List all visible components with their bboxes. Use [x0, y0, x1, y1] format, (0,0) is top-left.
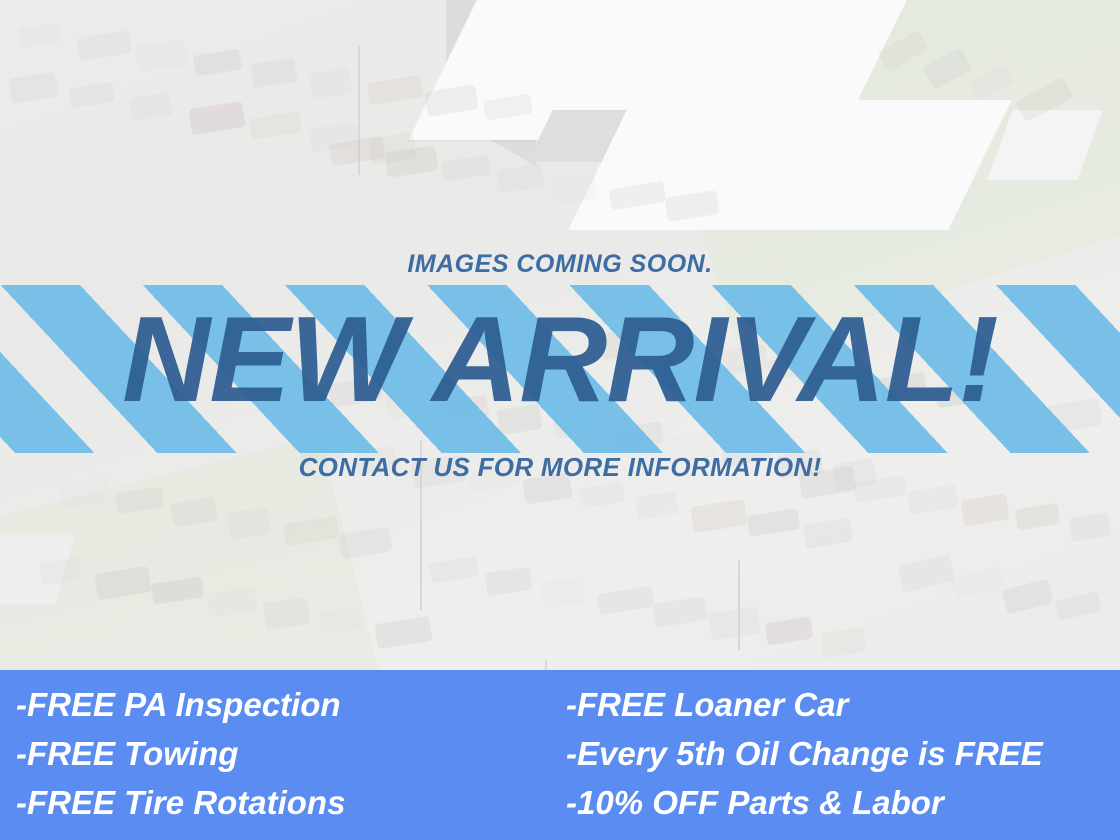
offer-item: -Every 5th Oil Change is FREE [566, 729, 1120, 778]
new-arrival-placeholder-card: IMAGES COMING SOON. NEW ARRIVAL! CONTACT… [0, 0, 1120, 840]
offer-item: -FREE Tire Rotations [16, 778, 560, 827]
offer-item: -FREE Towing [16, 729, 560, 778]
new-arrival-headline: NEW ARRIVAL! [0, 294, 1120, 424]
contact-us-subline: CONTACT US FOR MORE INFORMATION! [0, 452, 1120, 483]
service-offers-banner: -FREE PA Inspection -FREE Towing -FREE T… [0, 670, 1120, 840]
offer-item: -FREE PA Inspection [16, 680, 560, 729]
images-coming-soon-text: IMAGES COMING SOON. [0, 250, 1120, 279]
showroom-building-roof [568, 100, 1011, 230]
offer-item: -10% OFF Parts & Labor [566, 778, 1120, 827]
offers-column-right: -FREE Loaner Car -Every 5th Oil Change i… [560, 680, 1120, 827]
offers-column-left: -FREE PA Inspection -FREE Towing -FREE T… [0, 680, 560, 827]
offer-item: -FREE Loaner Car [566, 680, 1120, 729]
